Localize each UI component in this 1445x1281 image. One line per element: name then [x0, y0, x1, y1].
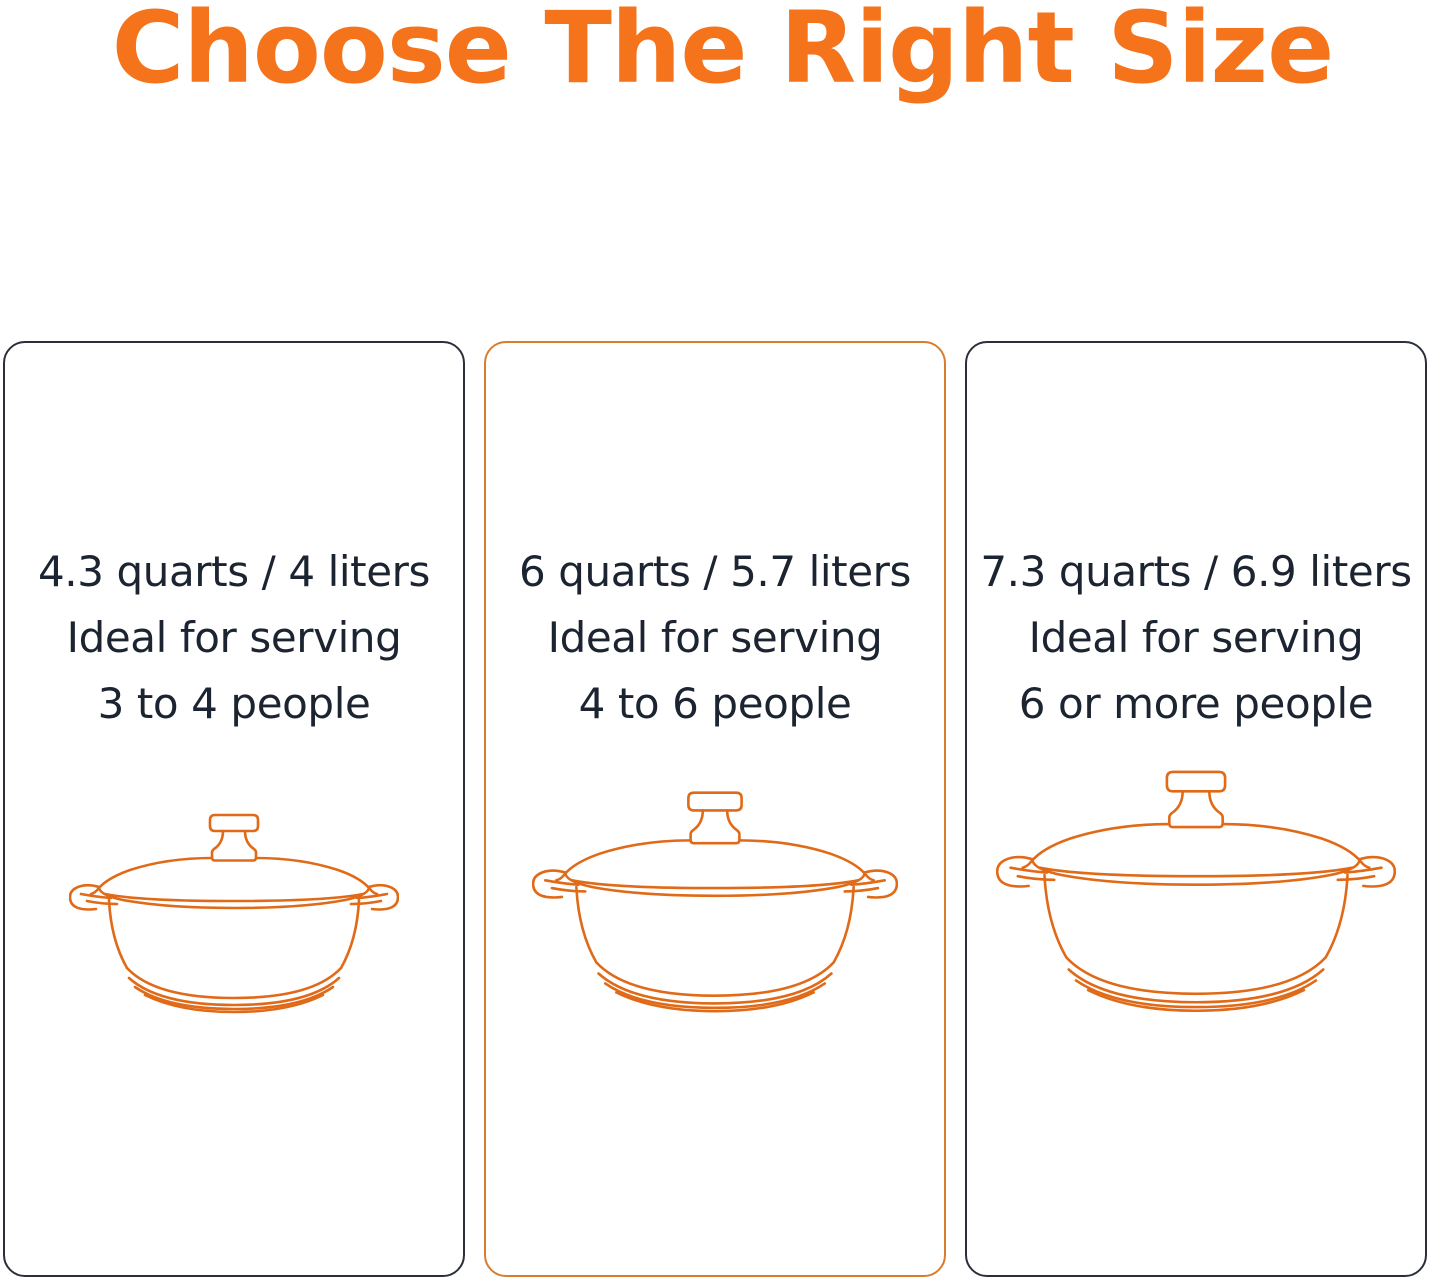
size-cards-row: 4.3 quarts / 4 liters Ideal for serving … — [3, 341, 1427, 1277]
size-card-large[interactable]: 7.3 quarts / 6.9 liters Ideal for servin… — [965, 341, 1427, 1277]
pot-illustration-wrap — [486, 767, 944, 1017]
dutch-oven-pot-icon — [532, 778, 898, 1017]
serving-label: Ideal for serving — [486, 605, 944, 671]
size-guide-infographic: Choose The Right Size 4.3 quarts / 4 lit… — [0, 0, 1445, 1281]
page-title: Choose The Right Size — [0, 0, 1445, 103]
size-card-medium-text: 6 quarts / 5.7 liters Ideal for serving … — [486, 539, 944, 737]
serving-count-label: 6 or more people — [967, 671, 1425, 737]
serving-count-label: 4 to 6 people — [486, 671, 944, 737]
size-card-small[interactable]: 4.3 quarts / 4 liters Ideal for serving … — [3, 341, 465, 1277]
capacity-label: 6 quarts / 5.7 liters — [486, 539, 944, 605]
dutch-oven-pot-icon — [996, 756, 1396, 1017]
size-card-medium[interactable]: 6 quarts / 5.7 liters Ideal for serving … — [484, 341, 946, 1277]
serving-count-label: 3 to 4 people — [5, 671, 463, 737]
pot-illustration-wrap — [967, 747, 1425, 1017]
size-card-large-text: 7.3 quarts / 6.9 liters Ideal for servin… — [967, 539, 1425, 737]
capacity-label: 4.3 quarts / 4 liters — [5, 539, 463, 605]
serving-label: Ideal for serving — [967, 605, 1425, 671]
dutch-oven-pot-icon — [69, 802, 399, 1017]
capacity-label: 7.3 quarts / 6.9 liters — [967, 539, 1425, 605]
serving-label: Ideal for serving — [5, 605, 463, 671]
size-card-small-text: 4.3 quarts / 4 liters Ideal for serving … — [5, 539, 463, 737]
pot-illustration-wrap — [5, 787, 463, 1017]
